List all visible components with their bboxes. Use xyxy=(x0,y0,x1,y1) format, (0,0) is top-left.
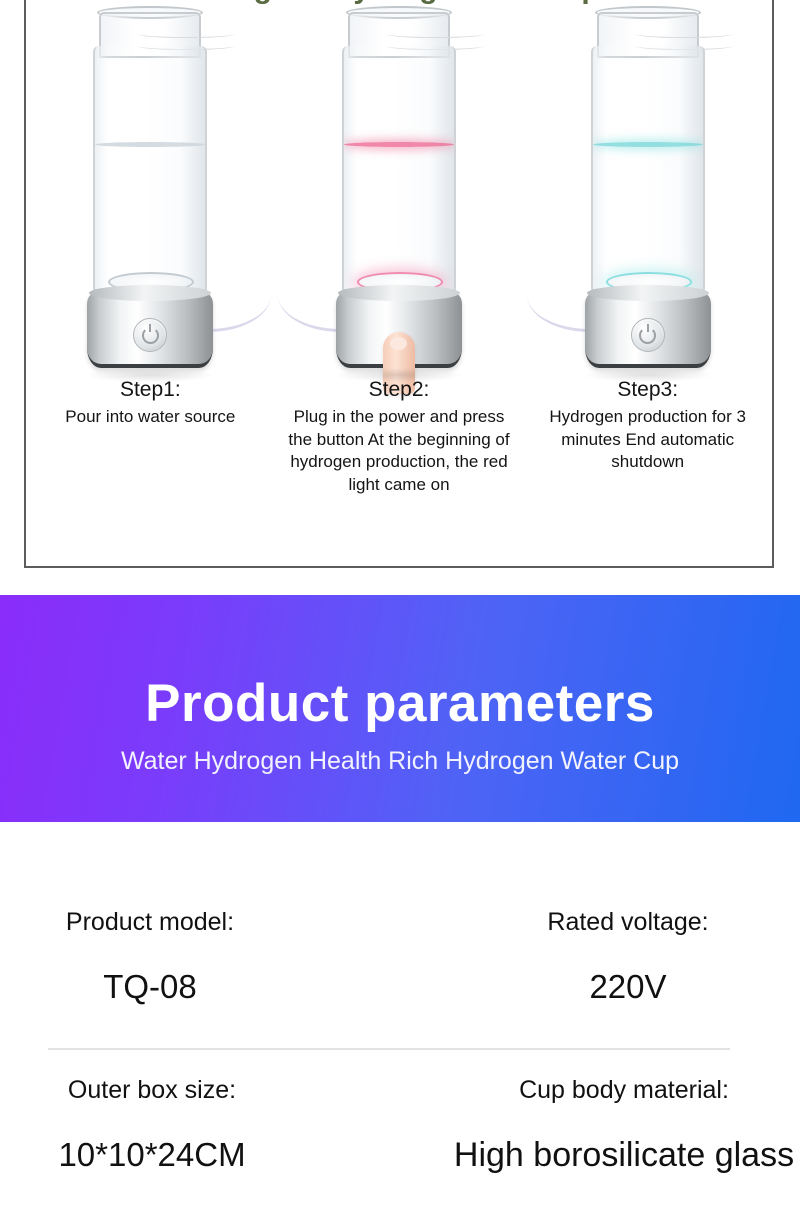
spec-cell-product-model: Product model: TQ-08 xyxy=(0,870,400,1038)
bottle-thread xyxy=(635,30,733,38)
bottle-glass-body xyxy=(591,46,705,304)
spec-row-divider xyxy=(48,1048,730,1050)
hydrogen-bottle-idle-image xyxy=(65,46,235,376)
spec-label: Cup body material: xyxy=(424,1076,800,1105)
power-icon xyxy=(142,327,159,344)
spec-cell-cup-body-material: Cup body material: High borosilicate gla… xyxy=(400,1038,800,1206)
base-top-ring xyxy=(587,285,709,301)
usage-steps-row: Step1: Pour into water source xyxy=(26,46,772,396)
step-description: Hydrogen production for 3 minutes End au… xyxy=(523,406,772,474)
power-icon xyxy=(639,327,656,344)
specifications-table: Product model: TQ-08 Rated voltage: 220V… xyxy=(0,870,800,1206)
power-button[interactable] xyxy=(133,318,167,352)
usage-panel: Usage of hydrogen rich cup xyxy=(24,0,774,568)
hydrogen-bottle-cyan-light-image xyxy=(563,46,733,376)
usage-step-2: Step2: Plug in the power and press the b… xyxy=(275,46,524,396)
step-caption: Step3: Hydrogen production for 3 minutes… xyxy=(523,378,772,474)
base-top-ring xyxy=(89,285,211,301)
spec-value: 220V xyxy=(428,968,800,1006)
step-heading: Step3: xyxy=(523,378,772,402)
bottle-base xyxy=(585,292,711,368)
step-description: Pour into water source xyxy=(26,406,275,429)
bottle-thread xyxy=(386,30,484,38)
spec-row: Outer box size: 10*10*24CM Cup body mate… xyxy=(0,1038,800,1206)
spec-label: Rated voltage: xyxy=(428,908,800,937)
spec-value: TQ-08 xyxy=(0,968,350,1006)
step-heading: Step2: xyxy=(275,378,524,402)
bottle-thread xyxy=(137,30,235,38)
spec-value: 10*10*24CM xyxy=(0,1136,352,1174)
banner-title: Product parameters xyxy=(0,673,800,734)
water-level-line xyxy=(344,142,454,147)
spec-row: Product model: TQ-08 Rated voltage: 220V xyxy=(0,870,800,1038)
product-parameters-banner: Product parameters Water Hydrogen Health… xyxy=(0,595,800,822)
bottle-base xyxy=(87,292,213,368)
usage-step-1: Step1: Pour into water source xyxy=(26,46,275,396)
usage-step-3: Step3: Hydrogen production for 3 minutes… xyxy=(523,46,772,396)
banner-subtitle: Water Hydrogen Health Rich Hydrogen Wate… xyxy=(0,747,800,776)
spec-cell-rated-voltage: Rated voltage: 220V xyxy=(400,870,800,1038)
hydrogen-bottle-red-light-image xyxy=(314,46,484,376)
spec-cell-outer-box-size: Outer box size: 10*10*24CM xyxy=(0,1038,400,1206)
water-level-line xyxy=(593,142,703,147)
bottle-glass-body xyxy=(93,46,207,304)
step-heading: Step1: xyxy=(26,378,275,402)
step-description: Plug in the power and press the button A… xyxy=(275,406,524,496)
base-top-ring xyxy=(338,285,460,301)
spec-label: Product model: xyxy=(0,908,350,937)
bottle-glass-body xyxy=(342,46,456,304)
power-button[interactable] xyxy=(631,318,665,352)
spec-value: High borosilicate glass xyxy=(424,1136,800,1175)
water-level-line xyxy=(95,142,205,147)
step-caption: Step2: Plug in the power and press the b… xyxy=(275,378,524,496)
spec-label: Outer box size: xyxy=(0,1076,352,1105)
step-caption: Step1: Pour into water source xyxy=(26,378,275,429)
